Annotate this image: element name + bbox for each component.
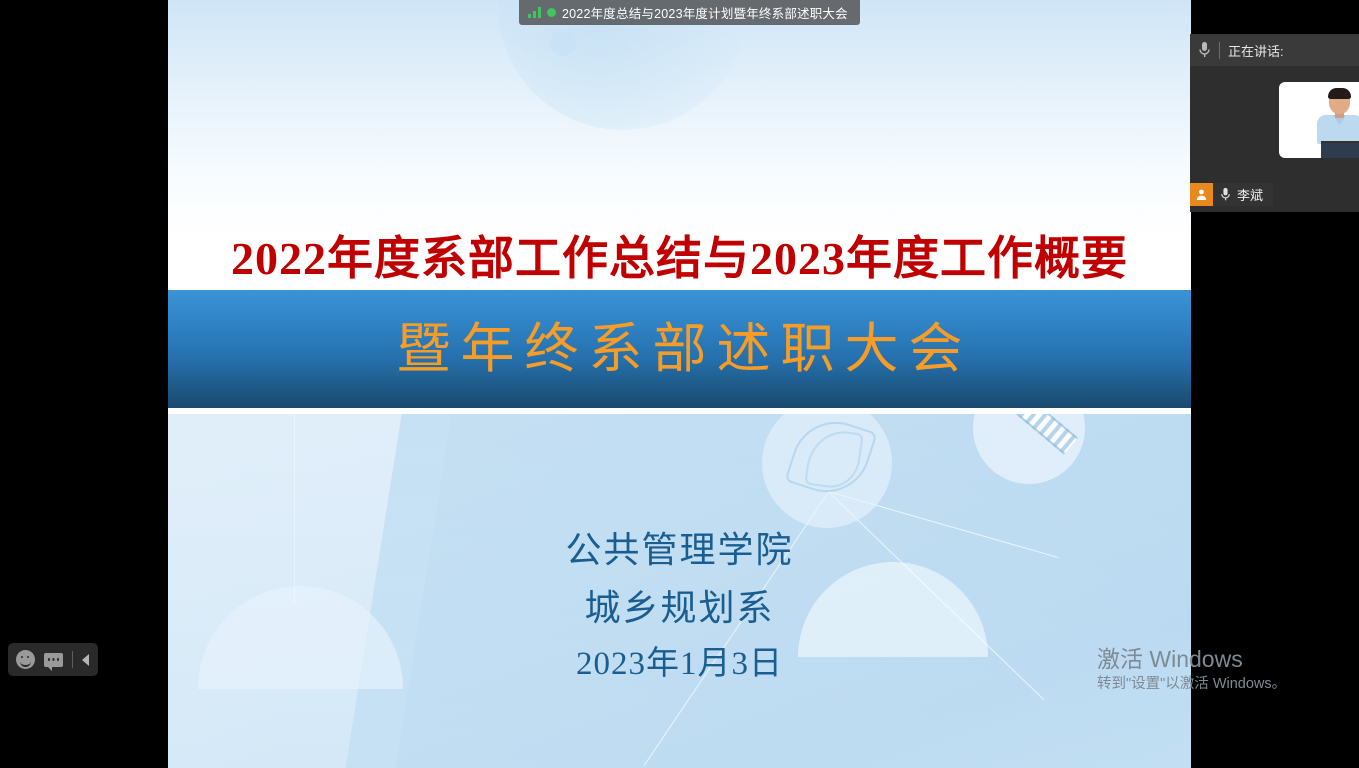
meeting-title-bar[interactable]: 2022年度总结与2023年度计划暨年终系部述职大会 — [519, 0, 860, 25]
slide-deco-ray — [294, 414, 295, 604]
active-speaker-panel[interactable]: 正在讲话: — [1190, 34, 1359, 212]
slide-subtitle: 暨年终系部述职大会 — [387, 322, 973, 376]
chat-button[interactable] — [44, 653, 63, 667]
active-speaker-video-area[interactable]: 李斌 — [1190, 66, 1359, 212]
participant-name-row: 李斌 — [1190, 183, 1273, 206]
collapse-toolbar-button[interactable] — [82, 654, 89, 666]
participant-video-thumbnail[interactable] — [1279, 82, 1359, 158]
slide-title: 2022年度系部工作总结与2023年度工作概要 — [168, 236, 1191, 282]
emoji-icon — [16, 650, 35, 669]
slide-subtitle-band: 暨年终系部述职大会 — [168, 290, 1191, 408]
slide-org-line-1: 公共管理学院 — [168, 532, 1191, 568]
toolbar-divider — [72, 651, 73, 668]
microphone-icon — [1213, 187, 1231, 202]
slide-bottom-background: 公共管理学院 城乡规划系 2023年1月3日 — [168, 414, 1191, 768]
screen-root: 2022年度系部工作总结与2023年度工作概要 暨年终系部述职大会 公共管理学院… — [0, 0, 1359, 768]
emoji-button[interactable] — [16, 650, 35, 669]
person-avatar-icon — [1190, 183, 1213, 206]
active-speaker-label: 正在讲话: — [1228, 41, 1284, 60]
caret-left-icon — [82, 654, 89, 666]
header-divider — [1219, 42, 1220, 59]
chat-bubble-icon — [44, 653, 63, 667]
signal-bars-icon — [528, 7, 541, 18]
meeting-title-text: 2022年度总结与2023年度计划暨年终系部述职大会 — [562, 3, 848, 22]
active-speaker-header: 正在讲话: — [1190, 34, 1359, 66]
participant-name: 李斌 — [1231, 185, 1273, 204]
shared-screen-slide: 2022年度系部工作总结与2023年度工作概要 暨年终系部述职大会 公共管理学院… — [168, 0, 1191, 768]
slide-org-line-2: 城乡规划系 — [168, 590, 1191, 626]
participant-photo — [1309, 88, 1359, 158]
floating-toolbar[interactable] — [8, 643, 98, 676]
slide-date: 2023年1月3日 — [168, 648, 1191, 681]
slide-top-decorative-dot — [550, 30, 576, 56]
recording-dot-icon — [547, 8, 556, 17]
microphone-icon — [1198, 41, 1211, 59]
